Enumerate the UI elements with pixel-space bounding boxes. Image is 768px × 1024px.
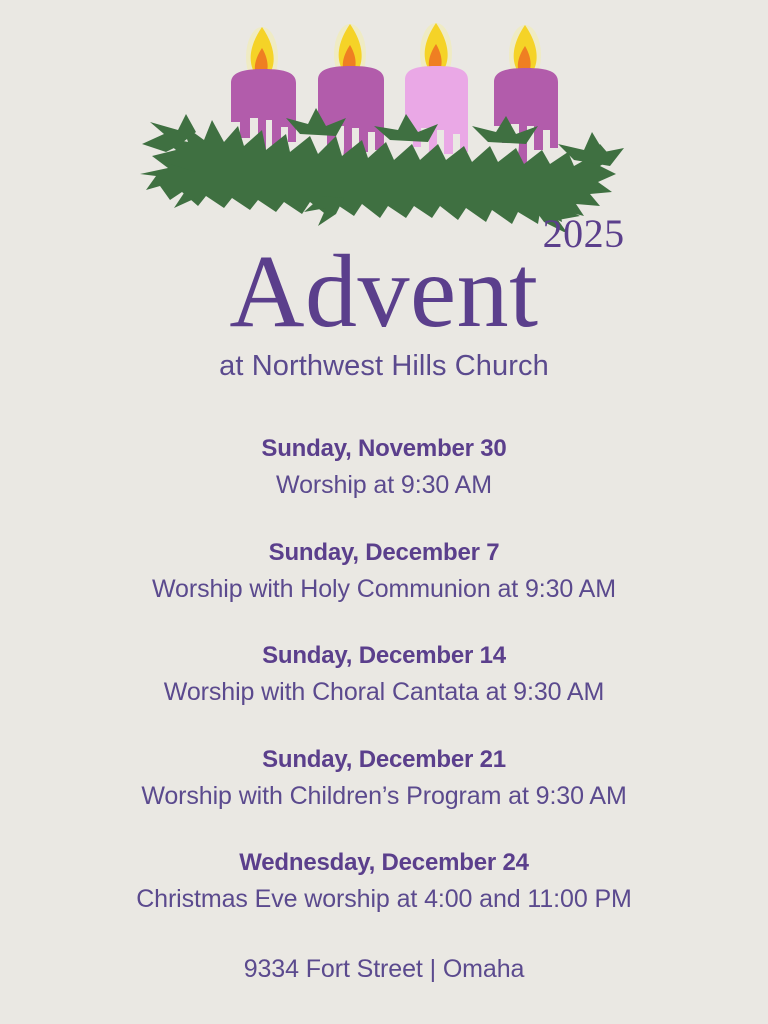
schedule-entry: Wednesday, December 24 Christmas Eve wor… [0,845,768,919]
schedule-entry: Sunday, November 30 Worship at 9:30 AM [0,431,768,505]
schedule-date: Sunday, December 21 [0,742,768,778]
schedule-entry: Sunday, December 14 Worship with Choral … [0,638,768,712]
schedule-description: Worship with Choral Cantata at 9:30 AM [0,674,768,712]
advent-title-line: Advent 2025 [229,240,538,344]
candle-body [494,68,558,166]
schedule-description: Worship at 9:30 AM [0,467,768,505]
schedule-date: Sunday, November 30 [0,431,768,467]
footer-address: 9334 Fort Street | Omaha [0,955,768,984]
schedule-date: Sunday, December 7 [0,535,768,571]
title-block: Advent 2025 at Northwest Hills Church [0,240,768,383]
schedule-description: Worship with Children’s Program at 9:30 … [0,778,768,816]
candle-4-purple [494,25,558,166]
schedule-description: Christmas Eve worship at 4:00 and 11:00 … [0,881,768,919]
page-title: Advent [229,240,538,344]
service-schedule: Sunday, November 30 Worship at 9:30 AM S… [0,431,768,919]
schedule-entry: Sunday, December 7 Worship with Holy Com… [0,535,768,609]
year-label: 2025 [543,214,625,254]
page-subtitle: at Northwest Hills Church [0,350,768,383]
schedule-date: Sunday, December 14 [0,638,768,674]
schedule-entry: Sunday, December 21 Worship with Childre… [0,742,768,816]
schedule-date: Wednesday, December 24 [0,845,768,881]
schedule-description: Worship with Holy Communion at 9:30 AM [0,571,768,609]
advent-wreath-illustration [0,0,768,232]
advent-poster: Advent 2025 at Northwest Hills Church Su… [0,0,768,1024]
